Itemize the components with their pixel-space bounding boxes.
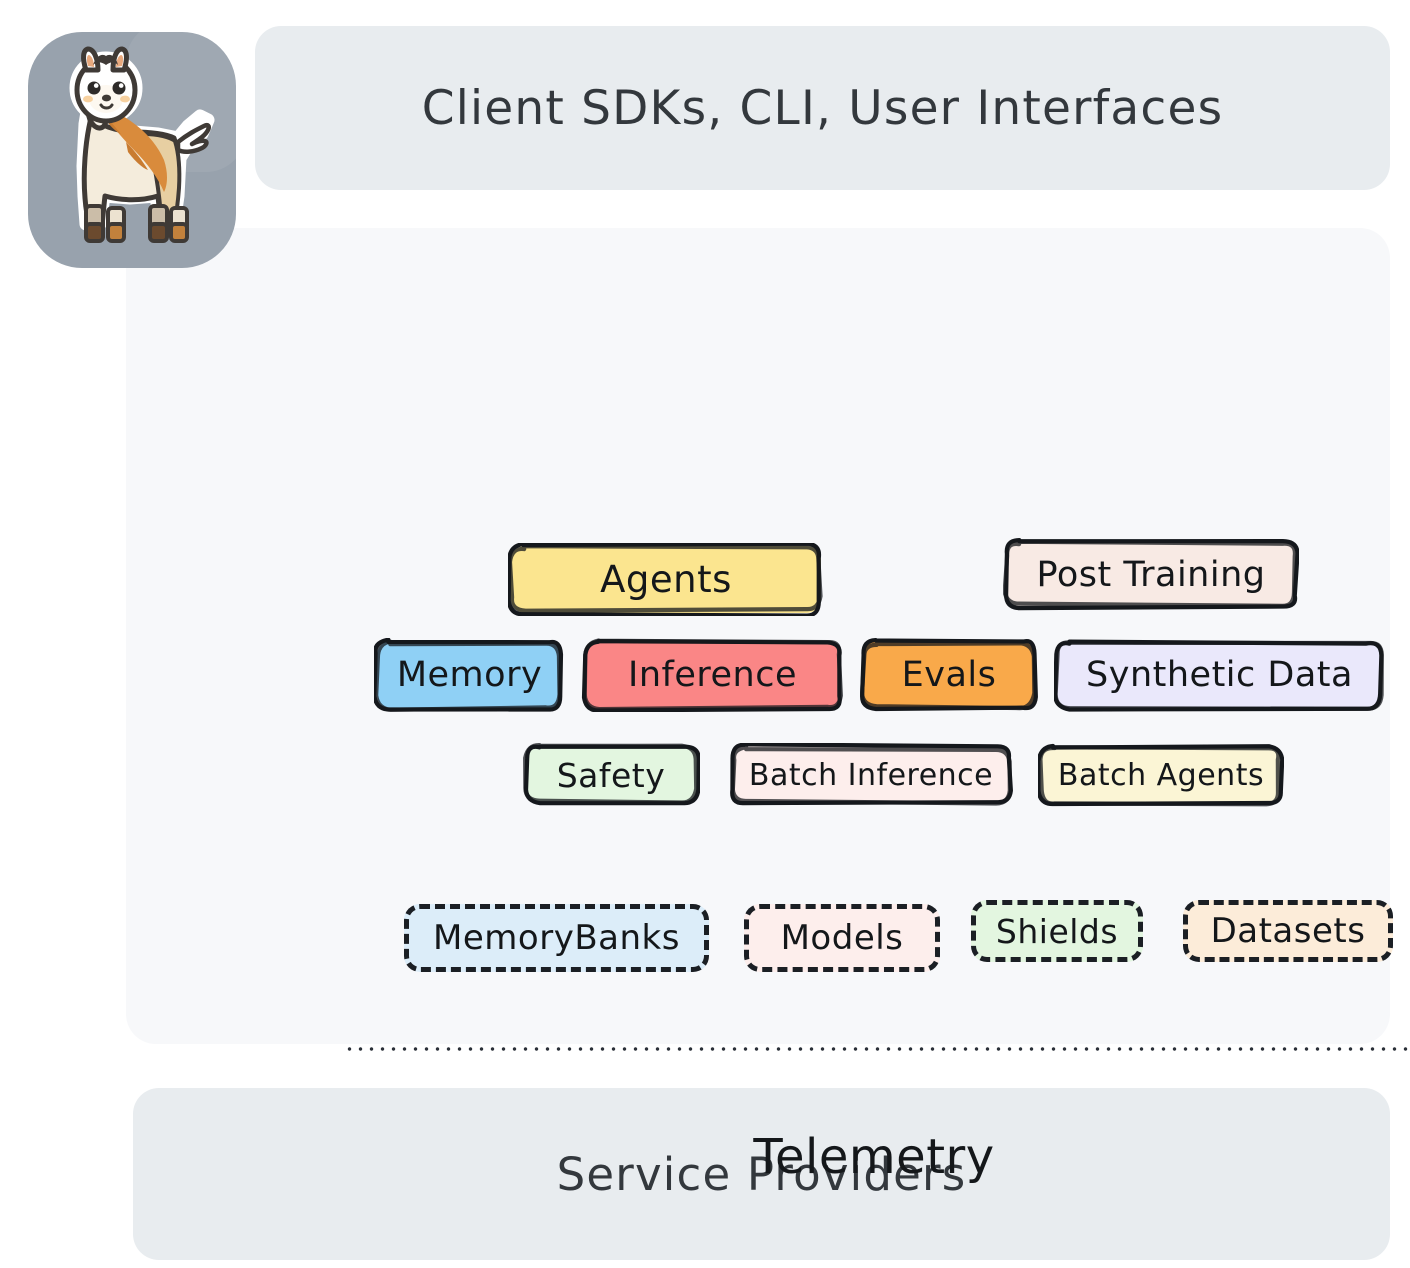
section-divider: [344, 1046, 1410, 1052]
resource-box-models[interactable]: Models: [744, 904, 940, 972]
api-box-safety-label: Safety: [557, 756, 666, 795]
resource-box-shields-label: Shields: [996, 912, 1118, 951]
api-box-batch-agents[interactable]: Batch Agents: [1041, 746, 1281, 804]
api-box-memory[interactable]: Memory: [377, 641, 562, 709]
api-box-batch-agents-label: Batch Agents: [1058, 758, 1264, 793]
api-box-inference[interactable]: Inference: [584, 641, 841, 709]
resource-box-models-label: Models: [781, 918, 904, 958]
header-title: Client SDKs, CLI, User Interfaces: [422, 81, 1224, 136]
api-box-post-training[interactable]: Post Training: [1006, 541, 1296, 608]
api-box-evals[interactable]: Evals: [863, 641, 1035, 709]
resource-box-memorybanks[interactable]: MemoryBanks: [404, 904, 709, 972]
llama-logo-badge: [28, 32, 236, 268]
resource-box-shields[interactable]: Shields: [971, 900, 1143, 962]
api-box-batch-inference-label: Batch Inference: [749, 758, 993, 793]
api-box-synthetic-data-label: Synthetic Data: [1086, 655, 1353, 695]
api-box-batch-inference[interactable]: Batch Inference: [731, 746, 1011, 804]
llama-stack-panel: AgentsPost TrainingMemoryInferenceEvalsS…: [126, 228, 1390, 1044]
api-box-synthetic-data[interactable]: Synthetic Data: [1057, 641, 1382, 709]
client-interfaces-bar: Client SDKs, CLI, User Interfaces: [255, 26, 1390, 190]
llama-logo-icon: [38, 46, 228, 254]
api-box-evals-label: Evals: [902, 655, 997, 695]
api-box-agents[interactable]: Agents: [511, 546, 821, 613]
api-box-post-training-label: Post Training: [1037, 555, 1266, 595]
resource-box-datasets[interactable]: Datasets: [1183, 900, 1393, 962]
api-box-safety[interactable]: Safety: [525, 746, 697, 804]
api-box-memory-label: Memory: [397, 655, 542, 695]
resource-box-memorybanks-label: MemoryBanks: [433, 918, 680, 958]
resource-box-datasets-label: Datasets: [1211, 911, 1366, 951]
api-box-agents-label: Agents: [600, 558, 732, 601]
api-box-inference-label: Inference: [628, 655, 797, 695]
telemetry-box-label: Telemetry: [753, 1129, 994, 1185]
